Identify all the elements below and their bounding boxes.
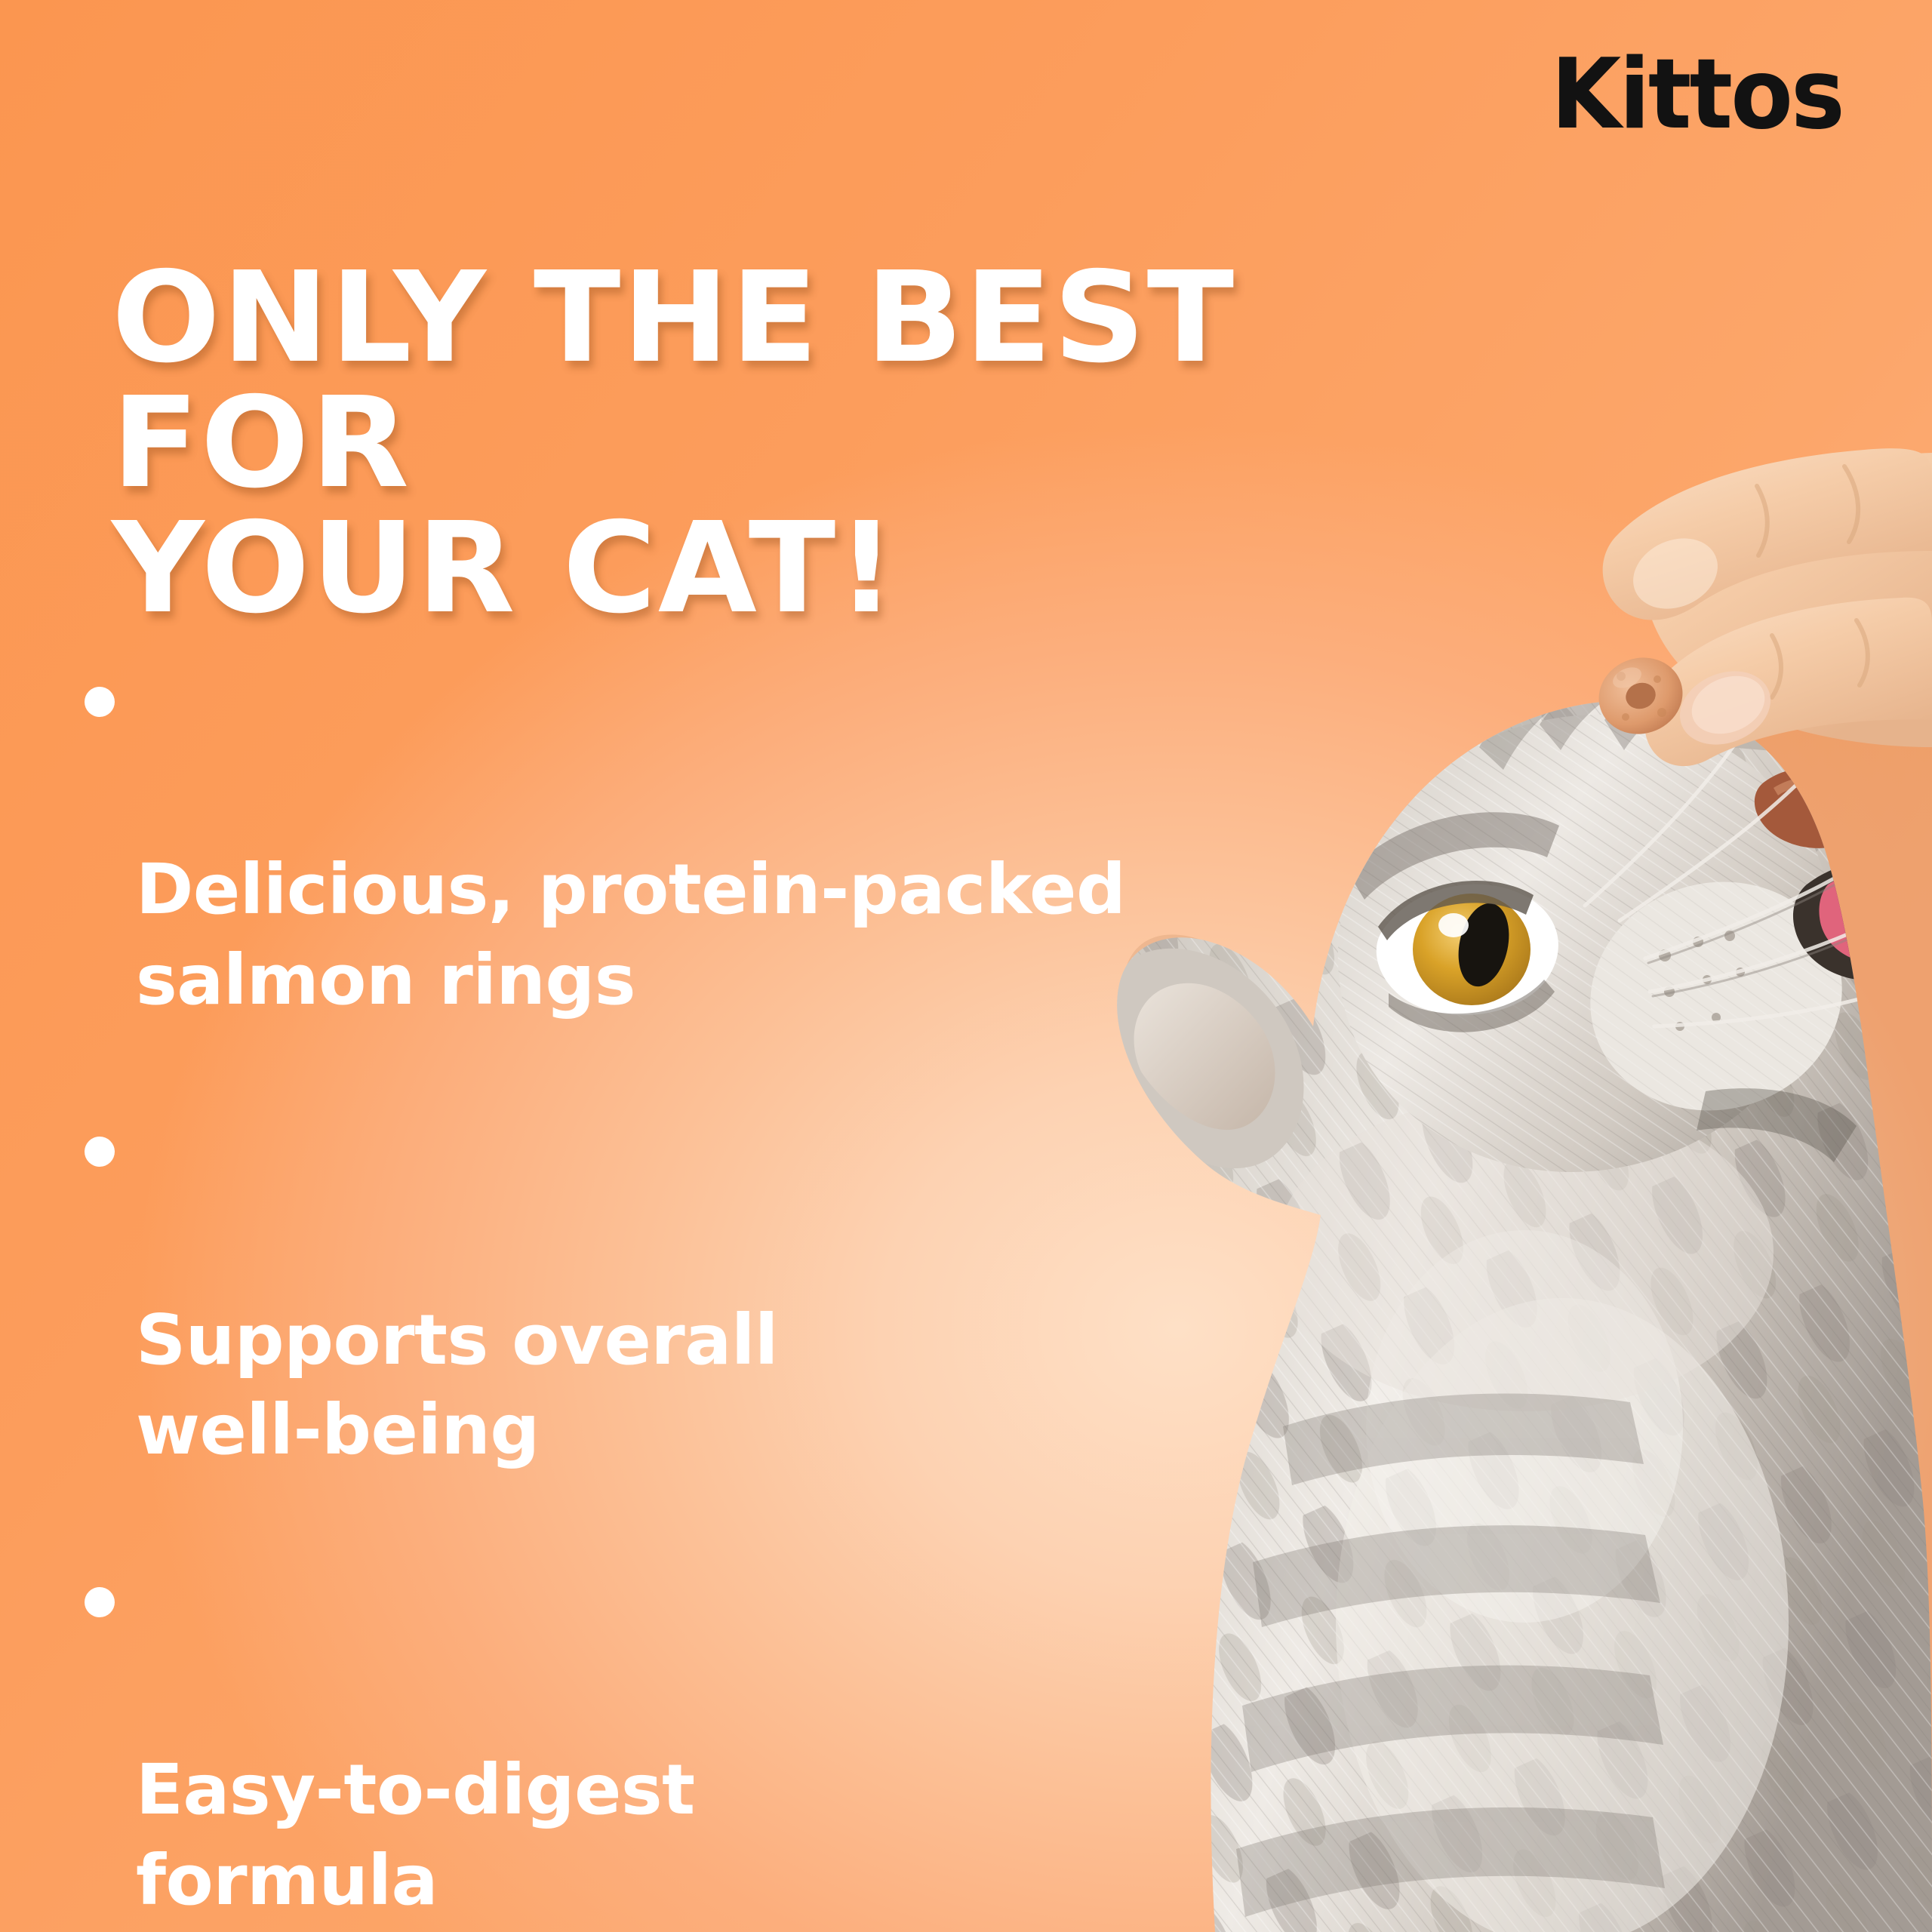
salmon-ring-treat [1589,647,1692,745]
bullet-dot-icon [85,1137,115,1167]
human-hand [1603,448,1932,766]
list-item-label: Easy-to-digest formula [136,1749,695,1921]
bullet-dot-icon [85,1587,115,1617]
benefits-list: Delicious, protein-packed salmon rings S… [82,664,1259,1932]
page-title: Only the best for your cat! [112,256,1497,632]
list-item: Easy-to-digest formula [82,1564,1259,1925]
list-item: Delicious, protein-packed salmon rings [82,664,1259,1025]
bullet-dot-icon [85,687,115,717]
promo-poster: Kittos Only the best for your cat! Delic… [0,0,1932,1932]
list-item: Supports overall well-being [82,1114,1259,1475]
list-item-label: Supports overall well-being [136,1300,778,1471]
kittos-logo: Kittos [1551,47,1843,143]
list-item-label: Delicious, protein-packed salmon rings [136,849,1125,1020]
cat-eye [1377,881,1558,1032]
